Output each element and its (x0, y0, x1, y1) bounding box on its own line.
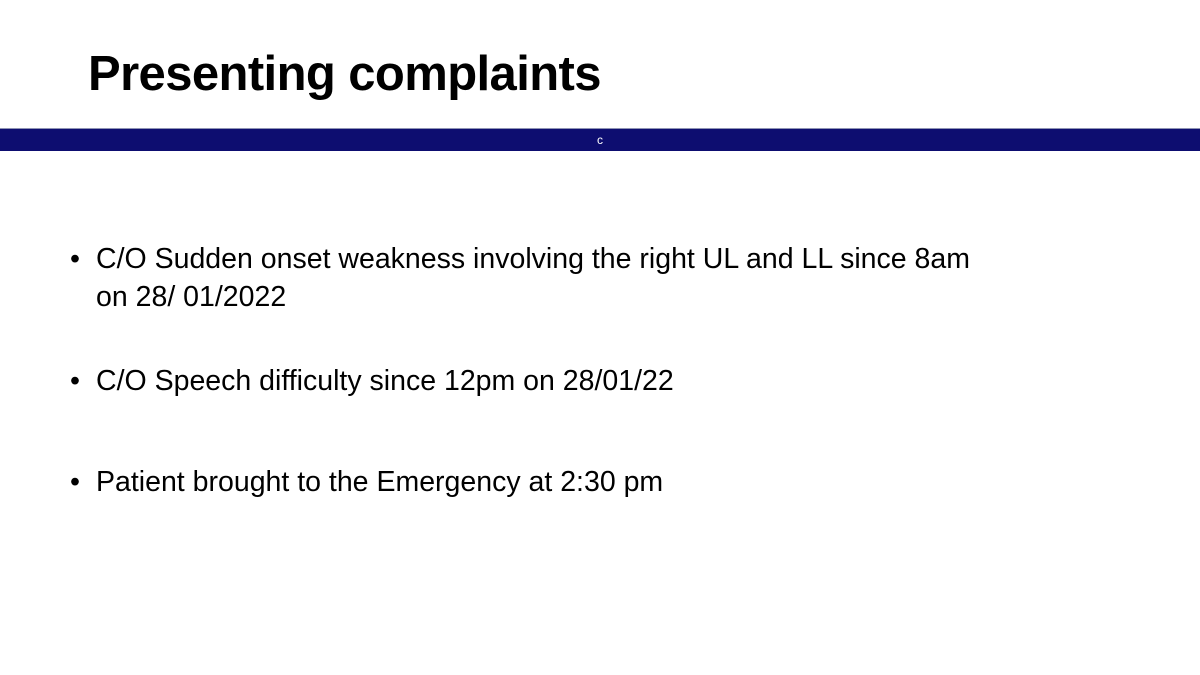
list-item-text: Patient brought to the Emergency at 2:30… (96, 463, 1146, 501)
divider-band: c (0, 128, 1200, 151)
divider-band-label: c (0, 129, 1200, 152)
list-item: • C/O Sudden onset weakness involving th… (66, 240, 1146, 316)
slide-canvas: Presenting complaints c • C/O Sudden ons… (0, 0, 1200, 675)
list-item-text: C/O Speech difficulty since 12pm on 28/0… (96, 362, 1146, 400)
list-item-text: C/O Sudden onset weakness involving the … (96, 240, 1146, 316)
page-title: Presenting complaints (88, 48, 1138, 101)
bullet-marker-icon: • (70, 362, 90, 400)
list-item: • C/O Speech difficulty since 12pm on 28… (66, 362, 1146, 400)
bullet-list: • C/O Sudden onset weakness involving th… (66, 240, 1146, 501)
list-item: • Patient brought to the Emergency at 2:… (66, 463, 1146, 501)
bullet-marker-icon: • (70, 240, 90, 278)
bullet-marker-icon: • (70, 463, 90, 501)
